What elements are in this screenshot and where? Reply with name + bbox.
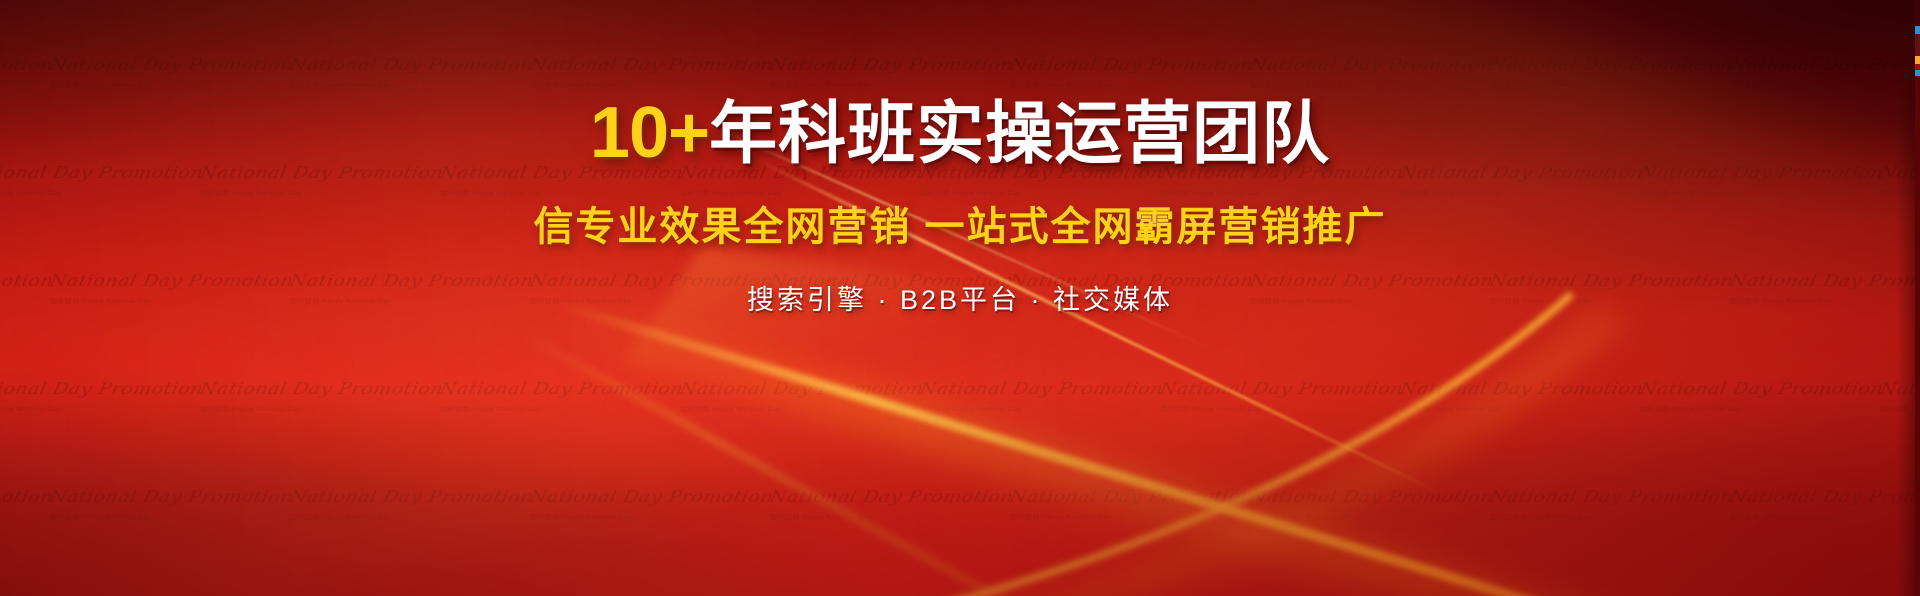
watermark-subtitle-text: 国庆促销 Happy National Day bbox=[770, 81, 1010, 90]
watermark-script-text: National Day Promotion bbox=[1728, 56, 1920, 75]
watermark-script-text: National Day Promotion bbox=[48, 56, 292, 75]
headline: 10+年科班实操运营团队 bbox=[0, 96, 1920, 172]
headline-text: 年科班实操运营团队 bbox=[709, 96, 1330, 172]
tagline: 搜索引擎 · B2B平台 · 社交媒体 bbox=[0, 278, 1920, 317]
watermark-subtitle-text: 国庆促销 Happy National Day bbox=[50, 81, 290, 90]
watermark-subtitle-text: 国庆促销 Happy National Day bbox=[1730, 81, 1920, 90]
watermark-cell: National Day Promotion国庆促销 Happy Nationa… bbox=[770, 48, 1010, 90]
watermark-cell: National Day Promotion国庆促销 Happy Nationa… bbox=[530, 48, 770, 90]
right-edge-fade bbox=[1897, 0, 1915, 596]
watermark-subtitle-text: 国庆促销 Happy National Day bbox=[1250, 81, 1490, 90]
watermark-cell: National Day Promotion国庆促销 Happy Nationa… bbox=[1730, 48, 1920, 90]
watermark-script-text: National Day Promotion bbox=[1248, 56, 1492, 75]
watermark-cell: National Day Promotion国庆促销 Happy Nationa… bbox=[290, 48, 530, 90]
watermark-subtitle-text: 国庆促销 Happy National Day bbox=[1010, 81, 1250, 90]
watermark-subtitle-text: 国庆促销 Happy National Day bbox=[530, 81, 770, 90]
banner-content: 10+年科班实操运营团队 信专业效果全网营销 一站式全网霸屏营销推广 搜索引擎 … bbox=[0, 96, 1920, 317]
right-edge-artifact bbox=[1915, 0, 1920, 596]
watermark-script-text: National Day Promotion bbox=[528, 56, 772, 75]
watermark-script-text: National Day Promotion bbox=[768, 56, 1012, 75]
watermark-cell: National Day Promotion国庆促销 Happy Nationa… bbox=[1010, 48, 1250, 90]
watermark-subtitle-text: 国庆促销 Happy National Day bbox=[1490, 81, 1730, 90]
headline-number: 10+ bbox=[590, 93, 709, 173]
subheadline: 信专业效果全网营销 一站式全网霸屏营销推广 bbox=[0, 194, 1920, 252]
watermark-row: National Day Promotion国庆促销 Happy Nationa… bbox=[0, 0, 1920, 48]
watermark-subtitle-text: 国庆促销 Happy National Day bbox=[0, 81, 50, 90]
bottom-shade bbox=[0, 386, 1920, 596]
watermark-cell: National Day Promotion国庆促销 Happy Nationa… bbox=[1250, 48, 1490, 90]
watermark-cell: National Day Promotion国庆促销 Happy Nationa… bbox=[1490, 48, 1730, 90]
watermark-script-text: National Day Promotion bbox=[1488, 56, 1732, 75]
watermark-cell: National Day Promotion国庆促销 Happy Nationa… bbox=[0, 48, 50, 90]
watermark-script-text: National Day Promotion bbox=[288, 56, 532, 75]
watermark-subtitle-text: 国庆促销 Happy National Day bbox=[290, 81, 530, 90]
watermark-cell: National Day Promotion国庆促销 Happy Nationa… bbox=[50, 48, 290, 90]
watermark-script-text: National Day Promotion bbox=[0, 56, 52, 75]
watermark-script-text: National Day Promotion bbox=[1008, 56, 1252, 75]
promotional-banner: National Day Promotion国庆促销 Happy Nationa… bbox=[0, 0, 1920, 596]
